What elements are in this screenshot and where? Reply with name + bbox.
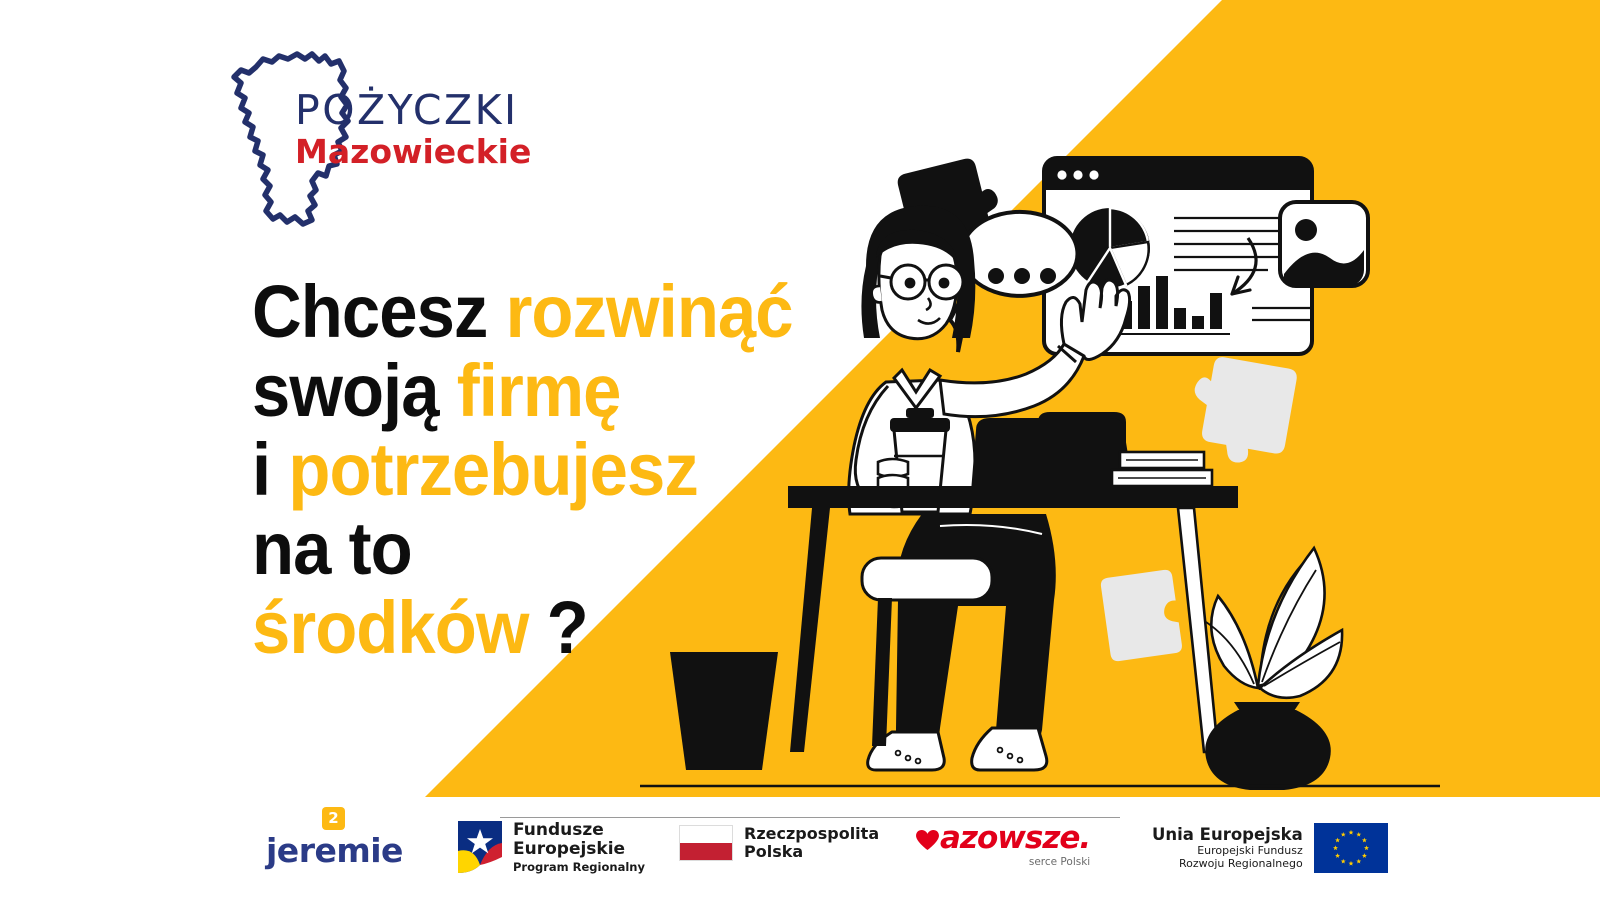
logo-title: POŻYCZKI — [295, 90, 531, 131]
headline: Chcesz rozwinąć swoją firmę i potrzebuje… — [252, 272, 892, 667]
fe-line-3: Program Regionalny — [513, 861, 645, 874]
ue-line-1: Unia Europejska — [1152, 825, 1303, 844]
headline-word: rozwinąć — [506, 270, 793, 353]
unia-europejska-text: Unia Europejska Europejski Fundusz Rozwo… — [1152, 825, 1303, 870]
shoe-icon — [972, 728, 1047, 770]
logo-subtitle: Mazowieckie — [295, 133, 531, 171]
headline-word: potrzebujesz — [288, 428, 697, 511]
rp-line-1: Rzeczpospolita — [744, 825, 879, 843]
waste-bin-icon — [670, 652, 778, 770]
eu-flag-icon — [1314, 823, 1388, 873]
poland-flag-icon — [679, 825, 733, 861]
jeremie-badge: 2 — [322, 807, 345, 830]
browser-dot-icon — [1073, 170, 1082, 179]
grey-puzzle-piece-icon — [1100, 569, 1183, 662]
mazowsze-wordmark-row: azowsze. — [916, 823, 1090, 854]
headline-word: na to — [252, 507, 412, 590]
headline-word: i — [252, 428, 288, 511]
fe-line-1: Fundusze — [513, 821, 645, 840]
headline-line-4: na to — [252, 509, 847, 588]
jeremie-logo[interactable]: jeremie 2 — [266, 831, 403, 870]
fe-line-2: Europejskie — [513, 840, 645, 859]
heart-m-icon — [916, 830, 939, 851]
book-stack-icon — [1112, 452, 1212, 486]
fundusze-europejskie-text: Fundusze Europejskie Program Regionalny — [513, 821, 645, 874]
footer: jeremie 2 Fundusze Europejskie Program R… — [0, 797, 1600, 900]
rp-line-2: Polska — [744, 843, 879, 861]
headline-question-mark: ? — [547, 586, 588, 669]
headline-word: środków — [252, 586, 547, 669]
browser-dot-icon — [1089, 170, 1098, 179]
headline-word: firmę — [457, 349, 621, 432]
fundusze-europejskie-logo[interactable]: Fundusze Europejskie Program Regionalny — [458, 821, 645, 874]
footer-logos: jeremie 2 Fundusze Europejskie Program R… — [0, 797, 1600, 900]
headline-word: Chcesz — [252, 270, 506, 353]
headline-word: swoją — [252, 349, 457, 432]
headline-line-3: i potrzebujesz — [252, 430, 847, 509]
fundusze-europejskie-star-mark-icon — [458, 821, 502, 873]
pozyczki-mazowieckie-logo[interactable]: POŻYCZKI Mazowieckie — [213, 45, 513, 230]
headline-line-5: środków ? — [252, 588, 847, 667]
browser-dot-icon — [1057, 170, 1066, 179]
ue-line-3: Rozwoju Regionalnego — [1152, 858, 1303, 871]
potted-plant-icon — [1205, 548, 1342, 790]
rzeczpospolita-text: Rzeczpospolita Polska — [744, 825, 879, 862]
rzeczpospolita-polska-logo[interactable]: Rzeczpospolita Polska — [679, 825, 879, 862]
mazowsze-wordmark: azowsze. — [940, 823, 1090, 854]
image-placeholder-icon — [1280, 202, 1368, 286]
headline-line-1: Chcesz rozwinąć — [252, 272, 847, 351]
unia-europejska-logo[interactable]: Unia Europejska Europejski Fundusz Rozwo… — [1152, 823, 1388, 873]
mazowsze-logo[interactable]: azowsze. serce Polski — [916, 823, 1090, 868]
jeremie-wordmark: jeremie — [266, 831, 403, 870]
mazowsze-tagline: serce Polski — [916, 856, 1090, 868]
headline-line-2: swoją firmę — [252, 351, 847, 430]
promotional-banner: POŻYCZKI Mazowieckie Chcesz rozwinąć swo… — [0, 0, 1600, 900]
ue-line-2: Europejski Fundusz — [1152, 845, 1303, 858]
